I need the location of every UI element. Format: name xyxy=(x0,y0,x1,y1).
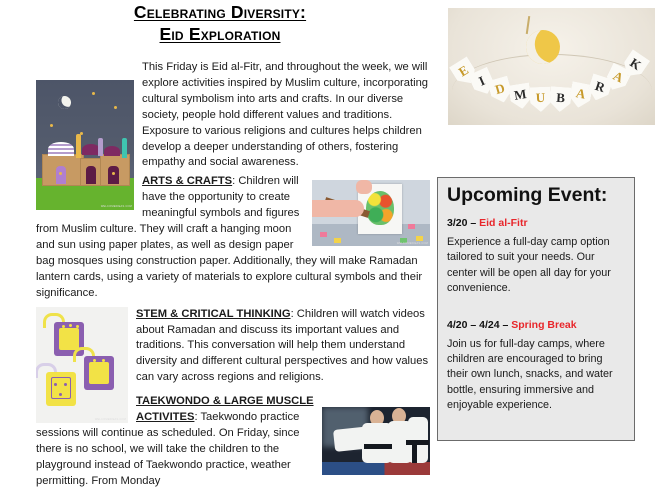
taekwondo-heading-line1: TAEKWONDO & LARGE MUSCLE xyxy=(136,395,314,407)
mosque-door-1 xyxy=(56,166,66,184)
striped-dome xyxy=(48,142,74,156)
child-hand xyxy=(356,180,372,194)
mosque-door-2 xyxy=(86,166,96,184)
minaret-gold xyxy=(76,134,81,158)
stem-heading: STEM & CRITICAL THINKING xyxy=(136,308,291,320)
lantern-card-craft-image: WELCOMEIDEAS.COM xyxy=(312,180,430,246)
minaret-lilac xyxy=(98,138,103,156)
image-watermark: WELCOMEIDEAS.COM xyxy=(397,242,428,246)
image-watermark: WELCOMEIDEAS.COM xyxy=(95,418,126,422)
event-item-1-description: Join us for full-day camps, where childr… xyxy=(447,337,625,414)
event-item-0-date: 3/20 – Eid al-Fitr xyxy=(447,217,625,229)
event-item-1-name: Spring Break xyxy=(511,319,576,331)
belt-tail xyxy=(412,445,417,463)
eid-mubarak-banner-image: E I D M U B A R A K xyxy=(448,8,655,125)
taekwondo-image xyxy=(322,407,430,475)
child-arm xyxy=(312,200,364,217)
image-watermark: WELCOMEIDEAS.COM xyxy=(101,205,132,209)
taekwondo-heading-line2: ACTIVITES xyxy=(136,411,194,423)
page-title: Celebrating Diversity: Eid Exploration xyxy=(0,2,440,44)
newsletter-page: Celebrating Diversity: Eid Exploration E… xyxy=(0,0,670,447)
event-item-0-description: Experience a full-day camp option tailor… xyxy=(447,235,625,297)
upcoming-event-title: Upcoming Event: xyxy=(447,185,625,207)
event-item-0-name: Eid al-Fitr xyxy=(479,217,527,229)
paper-bag-mosque-image: WELCOMEIDEAS.COM xyxy=(36,80,134,210)
purple-dome-2 xyxy=(104,146,120,156)
dojang-mat xyxy=(322,462,430,475)
event-item-1-date: 4/20 – 4/24 – Spring Break xyxy=(447,319,625,331)
title-line-2: Eid Exploration xyxy=(0,24,440,45)
ramadan-lanterns-image: WELCOMEIDEAS.COM xyxy=(36,307,128,423)
event-item-0-date-text: 3/20 – xyxy=(447,217,479,229)
upcoming-event-box: Upcoming Event: 3/20 – Eid al-Fitr Exper… xyxy=(437,177,635,441)
minaret-teal xyxy=(122,138,127,158)
mosque-door-3 xyxy=(108,166,119,184)
black-belt-2 xyxy=(406,440,429,445)
arts-and-crafts-heading: ARTS & CRAFTS xyxy=(142,175,232,187)
event-item-1-date-text: 4/20 – 4/24 – xyxy=(447,319,511,331)
mosaic-lantern-art xyxy=(366,191,394,225)
article-body: WELCOMEIDEAS.COM This Friday is Eid al-F… xyxy=(36,60,430,493)
title-line-1: Celebrating Diversity: xyxy=(0,2,440,23)
